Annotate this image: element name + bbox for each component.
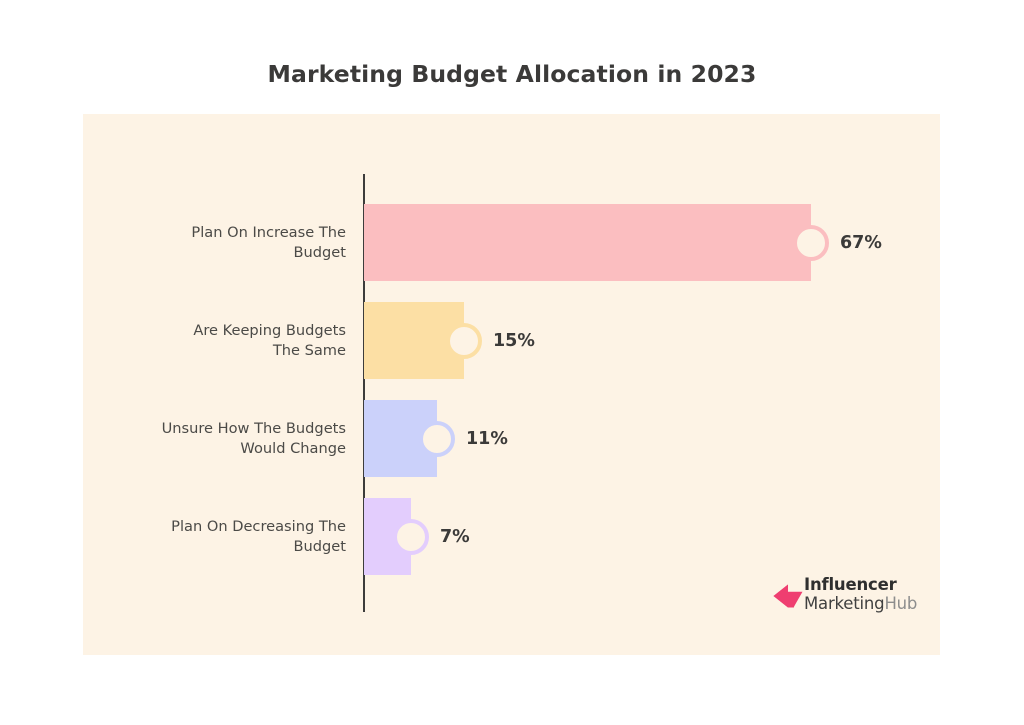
- bar-category-label-line-1: Plan On Decreasing The: [106, 517, 346, 537]
- bar-row: Are Keeping Budgets The Same 15%: [83, 302, 940, 379]
- bar-category-label-line-2: Budget: [106, 243, 346, 263]
- bar-series-group: Plan On Increase The Budget 67% Are Keep…: [83, 114, 940, 655]
- bar-category-label: Unsure How The Budgets Would Change: [106, 419, 346, 459]
- bar-row: Plan On Decreasing The Budget 7%: [83, 498, 940, 575]
- bar-value-label: 7%: [440, 527, 470, 547]
- bar-value-label: 67%: [840, 233, 882, 253]
- bar-category-label: Are Keeping Budgets The Same: [106, 321, 346, 361]
- bar-end-marker-icon: [419, 421, 455, 457]
- brand-logo-hub: Hub: [884, 594, 917, 613]
- bar-value-label: 15%: [493, 331, 535, 351]
- bar-row: Unsure How The Budgets Would Change 11%: [83, 400, 940, 477]
- brand-logo-line-1: Influencer: [804, 575, 934, 594]
- bar-value-label: 11%: [466, 429, 508, 449]
- bar-category-label: Plan On Decreasing The Budget: [106, 517, 346, 557]
- brand-logo-marketing: Marketing: [804, 594, 884, 613]
- bar-shape[interactable]: [364, 204, 811, 281]
- bar-end-marker-icon: [393, 519, 429, 555]
- brand-logo-line-2: MarketingHub: [804, 594, 934, 613]
- bar-category-label-line-1: Unsure How The Budgets: [106, 419, 346, 439]
- bar-category-label-line-1: Are Keeping Budgets: [106, 321, 346, 341]
- bar-category-label: Plan On Increase The Budget: [106, 223, 346, 263]
- bar-end-marker-icon: [446, 323, 482, 359]
- bar-category-label-line-2: Budget: [106, 537, 346, 557]
- left-arrow-icon: [773, 579, 807, 613]
- bar-category-label-line-2: The Same: [106, 341, 346, 361]
- bar-category-label-line-2: Would Change: [106, 439, 346, 459]
- chart-plot-panel: Plan On Increase The Budget 67% Are Keep…: [83, 114, 940, 655]
- brand-logo: Influencer MarketingHub: [773, 575, 933, 617]
- bar-end-marker-icon: [793, 225, 829, 261]
- bar-category-label-line-1: Plan On Increase The: [106, 223, 346, 243]
- brand-logo-text: Influencer MarketingHub: [804, 575, 934, 613]
- page-title: Marketing Budget Allocation in 2023: [0, 60, 1024, 88]
- bar-row: Plan On Increase The Budget 67%: [83, 204, 940, 281]
